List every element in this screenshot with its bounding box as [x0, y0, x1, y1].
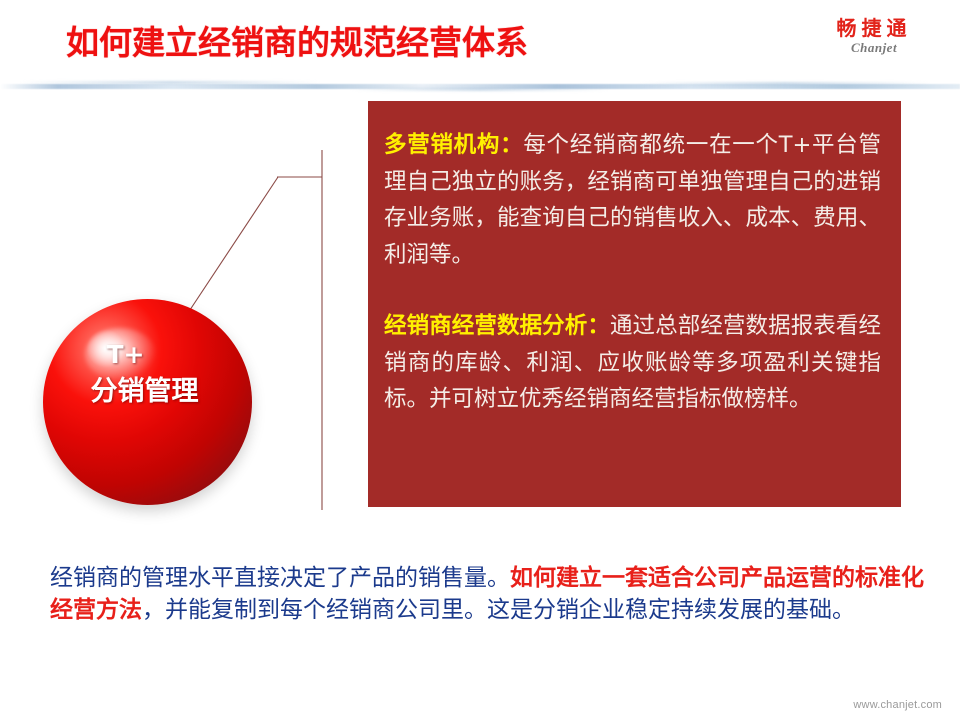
- divider-wisp: [20, 81, 320, 84]
- page-title: 如何建立经销商的规范经营体系: [66, 16, 528, 64]
- brand-logo-cn: 畅捷通: [814, 18, 934, 39]
- sphere-label-line1: T+: [0, 337, 252, 373]
- brand-logo-en: Chanjet: [814, 40, 934, 56]
- content-paragraph-2: 经销商经营数据分析：通过总部经营数据报表看经销商的库龄、利润、应收账龄等多项盈利…: [384, 308, 881, 418]
- divider-wisp: [640, 82, 930, 85]
- summary-part-1: 经销商的管理水平直接决定了产品的销售量。: [50, 565, 510, 591]
- divider-wisp: [350, 88, 610, 91]
- slide-header: 如何建立经销商的规范经营体系 畅捷通 Chanjet: [0, 0, 960, 82]
- summary-part-2: ，并能复制到每个经销商公司里。这是分销企业稳定持续发展的基础。: [142, 597, 855, 623]
- diagram-node-sphere: T+ 分销管理: [43, 299, 252, 505]
- sphere-label: T+ 分销管理: [43, 337, 252, 411]
- content-panel: 多营销机构：每个经销商都统一在一个T+平台管理自己独立的账务，经销商可单独管理自…: [368, 101, 901, 507]
- paragraph-1-lead: 多营销机构：: [384, 132, 523, 158]
- header-divider-band: [0, 80, 960, 93]
- brand-logo: 畅捷通 Chanjet: [814, 18, 934, 56]
- paragraph-2-lead: 经销商经营数据分析：: [384, 313, 610, 339]
- content-paragraph-1: 多营销机构：每个经销商都统一在一个T+平台管理自己独立的账务，经销商可单独管理自…: [384, 127, 881, 273]
- connector-diagonal: [178, 177, 278, 328]
- sphere-label-line2: 分销管理: [37, 373, 252, 411]
- summary-text: 经销商的管理水平直接决定了产品的销售量。如何建立一套适合公司产品运营的标准化经营…: [50, 563, 930, 626]
- footer-url: www.chanjet.com: [853, 699, 942, 711]
- slide: 如何建立经销商的规范经营体系 畅捷通 Chanjet T+ 分销管理 多营销机构…: [0, 0, 960, 720]
